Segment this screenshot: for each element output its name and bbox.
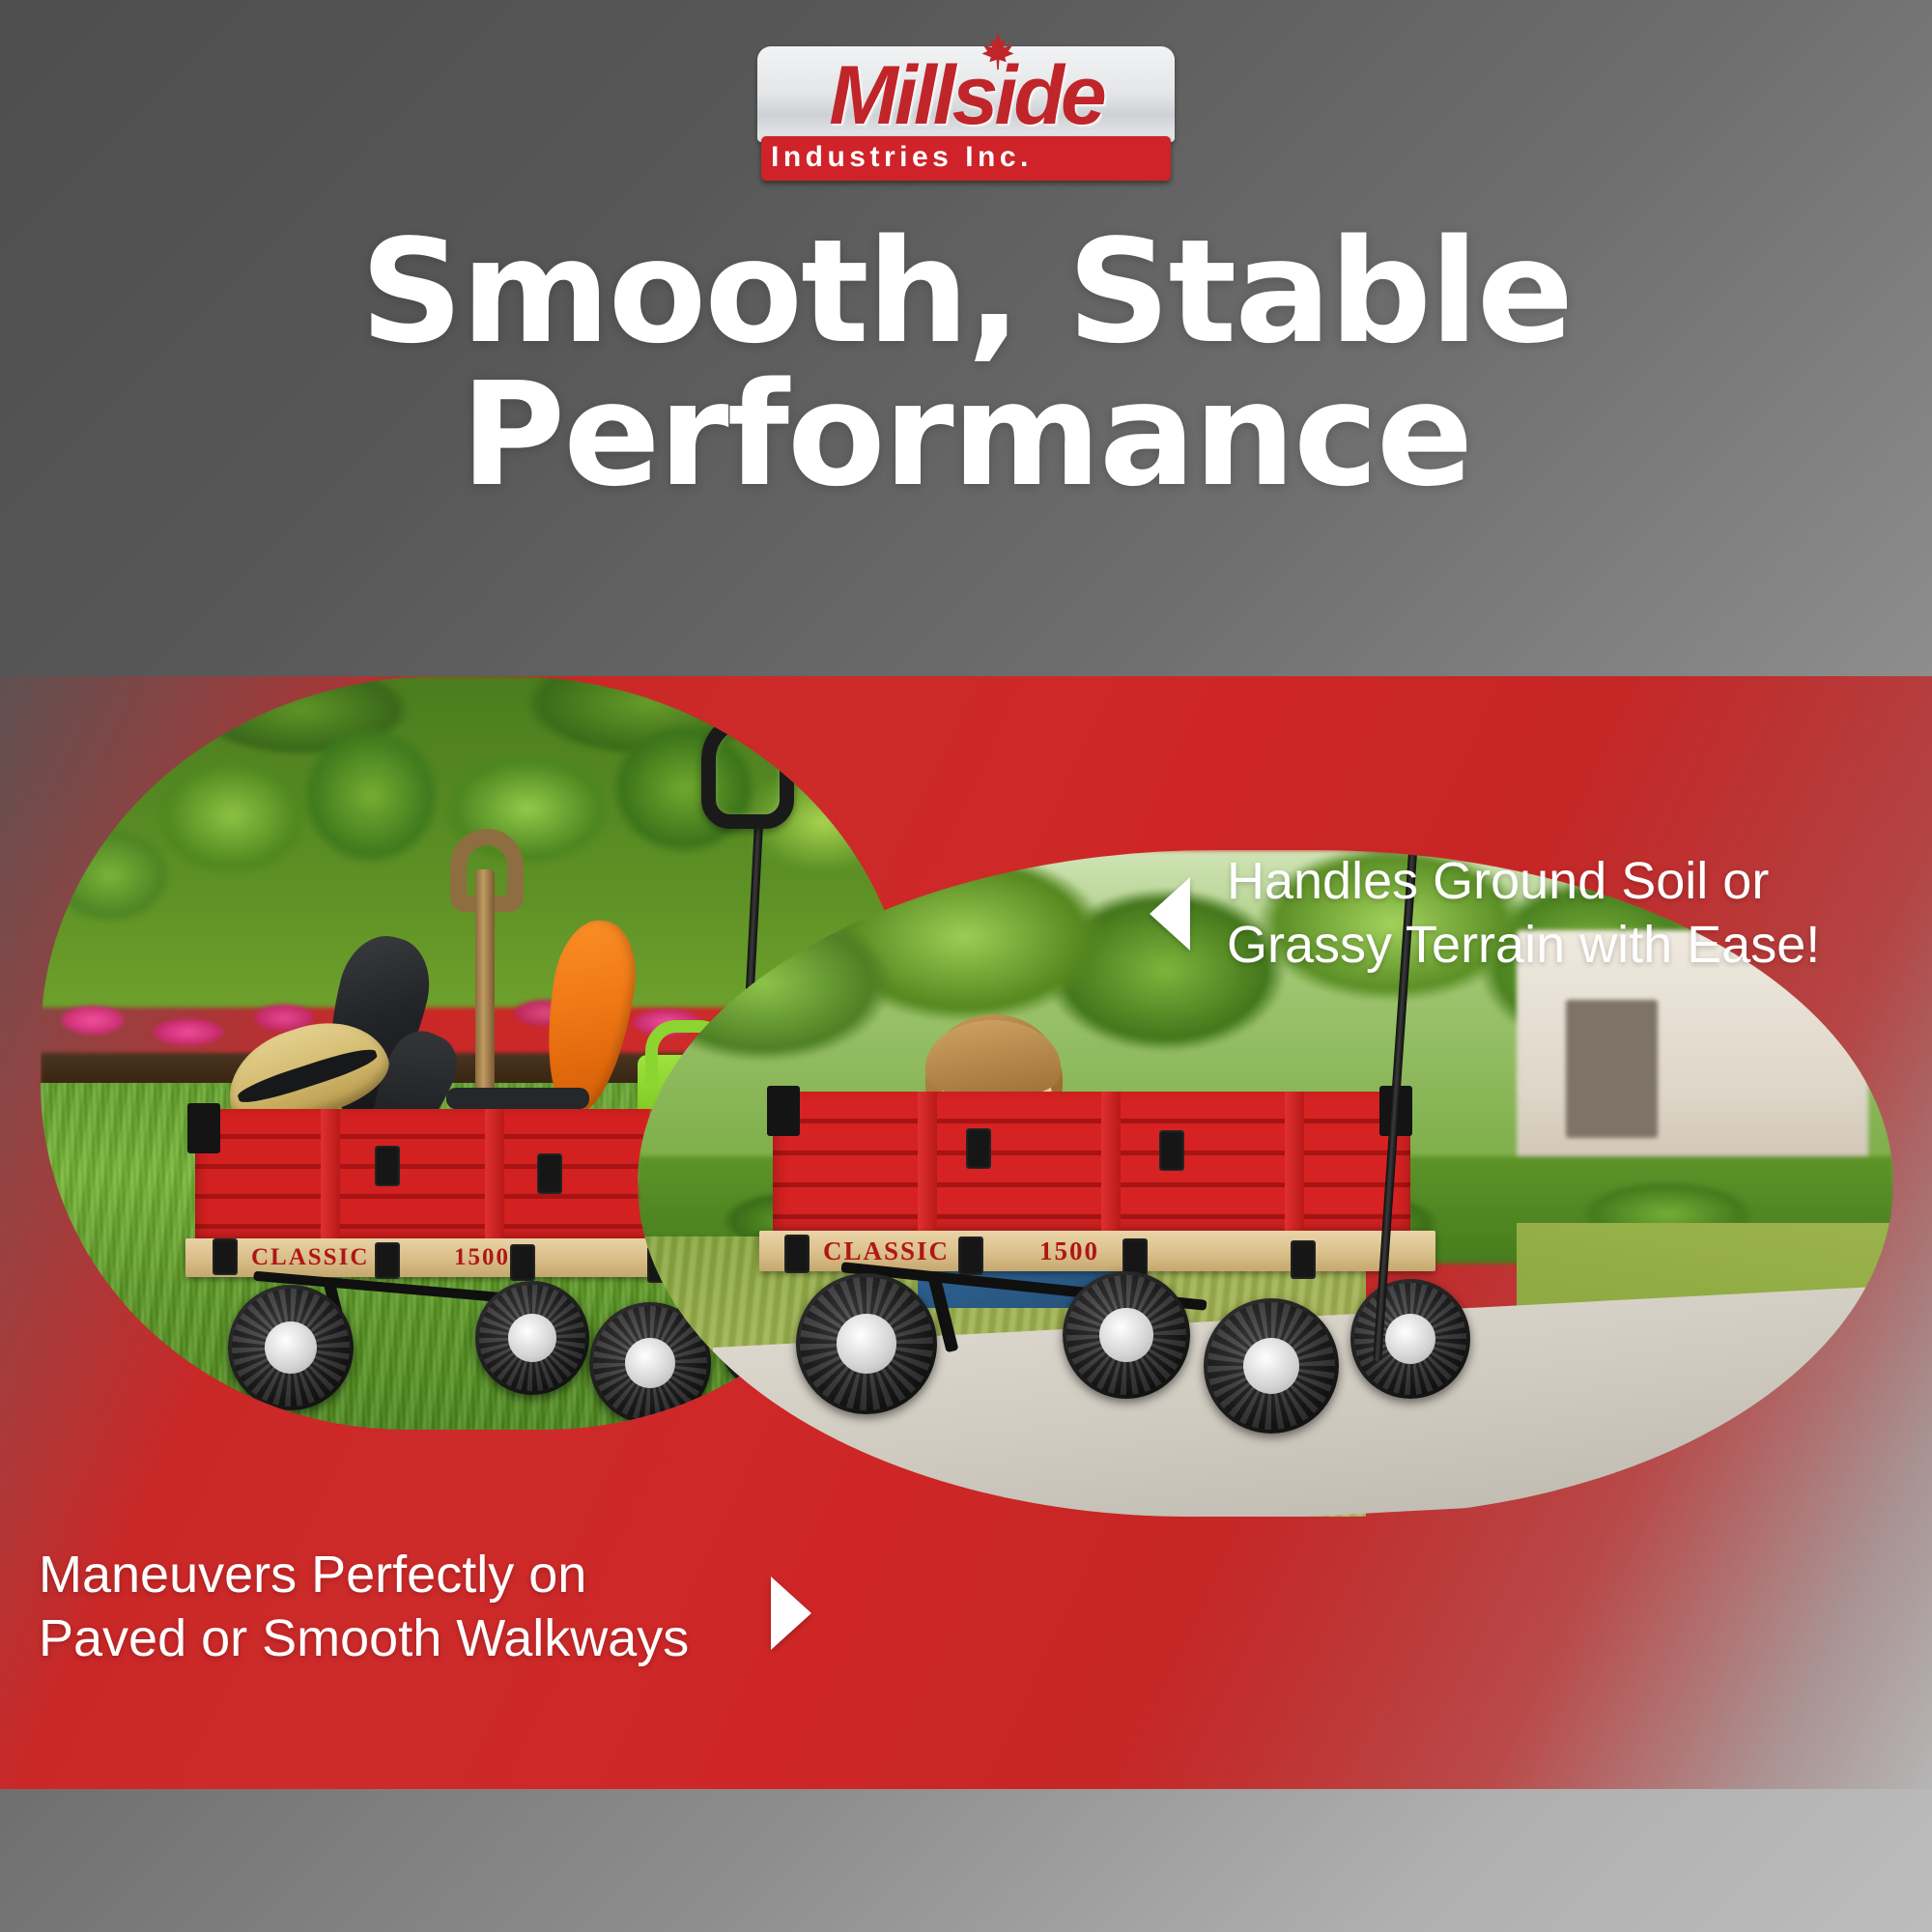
wagon-rail-bracket (1291, 1240, 1316, 1279)
page-title: Smooth, Stable Performance (0, 220, 1932, 506)
wagon-rail-bracket (958, 1236, 983, 1275)
wagon-vertical-slat (1285, 1092, 1304, 1236)
wagon-bracket (966, 1128, 991, 1169)
wagon-rail-bracket (784, 1235, 810, 1273)
callout-handles-ground-soil: Handles Ground Soil or Grassy Terrain wi… (1227, 850, 1820, 978)
wagon-boy: CLASSIC 1500 (753, 1092, 1700, 1497)
wagon-bracket (1159, 1130, 1184, 1171)
wagon-bracket (375, 1146, 400, 1186)
wagon-wheel (1063, 1271, 1190, 1399)
wagon-wheel (475, 1281, 589, 1395)
wagon-rail-bracket (375, 1242, 400, 1279)
headline-line-2: Performance (0, 363, 1932, 506)
wagon-corner-bracket (187, 1103, 220, 1153)
spade-shaft (475, 869, 495, 1111)
wagon-brand-text: CLASSIC (251, 1244, 369, 1271)
wagon-vertical-slat (918, 1092, 937, 1236)
wagon-wheel (1204, 1298, 1339, 1434)
triangle-right-icon (771, 1577, 811, 1650)
wagon-vertical-slat (485, 1109, 504, 1244)
wagon-bracket (537, 1153, 562, 1194)
wagon-corner-bracket (767, 1086, 800, 1136)
wagon-rail-bracket (510, 1244, 535, 1281)
logo-plate: Millside (757, 46, 1175, 142)
wagon-model-number: 1500 (454, 1244, 510, 1271)
logo-subtitle-bar: Industries Inc. (761, 136, 1171, 181)
wagon-wheel (228, 1285, 354, 1410)
wagon-model-number: 1500 (1039, 1236, 1099, 1266)
maple-leaf-icon (980, 32, 1015, 71)
brand-logo: Millside Industries Inc. (0, 46, 1932, 181)
triangle-left-icon (1150, 877, 1190, 951)
wagon-rail-bracket (213, 1238, 238, 1275)
logo-wordmark: Millside (775, 56, 1157, 136)
callout-maneuvers-perfectly: Maneuvers Perfectly on Paved or Smooth W… (39, 1544, 689, 1671)
wagon-wheel (796, 1273, 937, 1414)
wagon-handle-grip (701, 713, 794, 829)
wagon-vertical-slat (1101, 1092, 1121, 1236)
logo-subtitle: Industries Inc. (771, 143, 1161, 172)
wagon-side-panel (773, 1092, 1410, 1236)
wagon-vertical-slat (321, 1109, 340, 1244)
wagon-wheel (1350, 1279, 1470, 1399)
headline-line-1: Smooth, Stable (360, 209, 1572, 375)
